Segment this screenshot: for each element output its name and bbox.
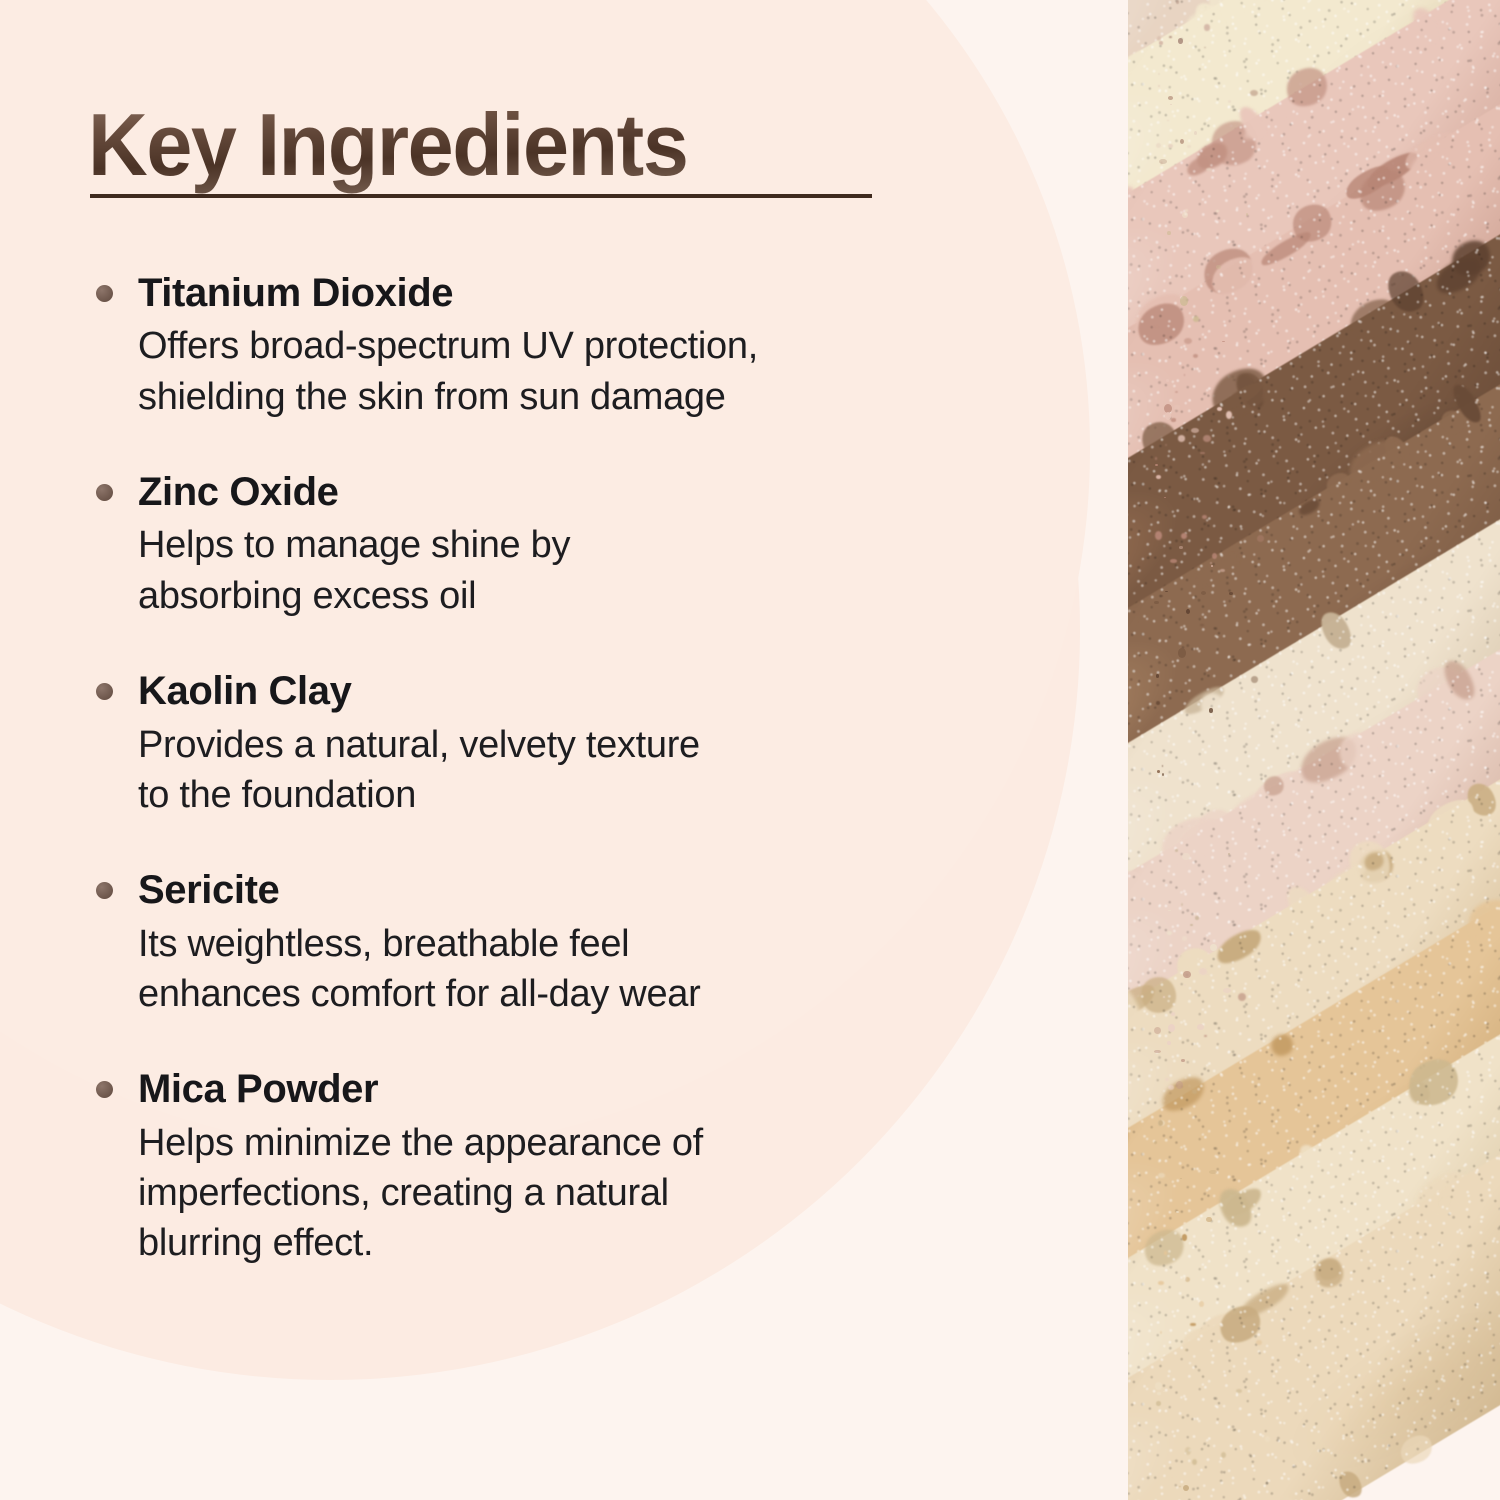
powder-speck (1182, 853, 1189, 860)
page-title: Key Ingredients (88, 96, 831, 195)
bullet-icon (96, 882, 113, 899)
ingredient-name: Sericite (138, 866, 1048, 915)
powder-crumb (1258, 1490, 1309, 1500)
powder-speck (1182, 936, 1187, 941)
ingredient-description-line: Helps minimize the appearance of (138, 1118, 1018, 1168)
ingredient-name: Zinc Oxide (138, 468, 1048, 517)
ingredient-description: Helps to manage shine byabsorbing excess… (138, 520, 1018, 620)
powder-speck (1211, 565, 1213, 567)
powder-speck (1184, 338, 1192, 344)
key-ingredients-panel: Key Ingredients Titanium DioxideOffers b… (0, 0, 1500, 1500)
ingredient-description-line: Its weightless, breathable feel (138, 919, 1018, 969)
powder-speck (1212, 553, 1217, 560)
powder-speck (1172, 1475, 1176, 1478)
powder-speck (1228, 100, 1231, 103)
powder-speck (1193, 354, 1198, 358)
powder-crumb (1128, 1260, 1136, 1293)
ingredient-name: Titanium Dioxide (138, 269, 1048, 318)
powder-crumb (1234, 102, 1271, 146)
powder-speck (1180, 296, 1188, 306)
title-underline (90, 194, 872, 198)
ingredient-list: Titanium DioxideOffers broad-spectrum UV… (88, 269, 1048, 1269)
powder-bands-container (1128, 0, 1500, 1500)
powder-speck (1155, 457, 1157, 460)
powder-crumb (1128, 184, 1137, 208)
powder-crumb (1430, 1189, 1458, 1216)
powder-crumb (1334, 1467, 1366, 1500)
powder-crumb (1128, 867, 1146, 899)
powder-speck (1217, 407, 1222, 411)
powder-speck (1200, 624, 1204, 626)
powder-speck (1220, 569, 1225, 572)
powder-speck (1167, 231, 1171, 235)
powder-crumb (1128, 323, 1142, 373)
ingredient-description: Helps minimize the appearance ofimperfec… (138, 1118, 1018, 1268)
ingredient-item: Mica PowderHelps minimize the appearance… (88, 1065, 1048, 1268)
powder-speck (1158, 1351, 1162, 1354)
powder-speck (1159, 159, 1166, 164)
powder-crumb (1128, 866, 1129, 922)
powder-crumb (1128, 1001, 1141, 1039)
powder-speck (1176, 1081, 1183, 1089)
ingredient-description-line: enhances comfort for all-day wear (138, 969, 1018, 1019)
powder-speck (1192, 1089, 1196, 1094)
powder-crumb (1189, 0, 1233, 48)
ingredient-description-line: shielding the skin from sun damage (138, 372, 1018, 422)
powder-speck (1154, 325, 1160, 328)
powder-speck (1156, 475, 1161, 479)
powder-speck (1171, 1012, 1175, 1016)
powder-speck (1158, 73, 1160, 75)
powder-crumb (1128, 614, 1131, 658)
ingredient-description-line: to the foundation (138, 770, 1018, 820)
ingredient-name: Mica Powder (138, 1065, 1048, 1114)
powder-speck (1155, 464, 1158, 466)
powder-speck (1166, 379, 1169, 382)
powder-crumb (1395, 1430, 1437, 1469)
powder-speck (1185, 1447, 1191, 1455)
ingredient-item: Titanium DioxideOffers broad-spectrum UV… (88, 269, 1048, 422)
ingredient-description-line: Helps to manage shine by (138, 520, 1018, 570)
powder-swatch-image (1128, 0, 1500, 1500)
powder-speck (1162, 773, 1164, 776)
powder-speck (1168, 96, 1173, 100)
powder-speck (1178, 648, 1186, 658)
powder-speck (1190, 924, 1192, 926)
powder-speck (1251, 676, 1258, 683)
powder-speck (1250, 90, 1258, 96)
powder-speck (1204, 1035, 1207, 1036)
powder-speck (1167, 120, 1169, 121)
powder-speck (1257, 535, 1264, 542)
ingredient-description-line: absorbing excess oil (138, 571, 1018, 621)
powder-crumb (1184, 153, 1213, 179)
powder-speck (1158, 1173, 1165, 1178)
powder-speck (1246, 213, 1248, 215)
powder-speck (1156, 701, 1160, 705)
ingredient-description-line: blurring effect. (138, 1218, 1018, 1268)
powder-speck (1181, 533, 1187, 539)
content-column: Key Ingredients Titanium DioxideOffers b… (88, 96, 1048, 1268)
powder-speck (1159, 41, 1163, 44)
ingredient-name: Kaolin Clay (138, 667, 1048, 716)
powder-speck (1179, 546, 1182, 549)
bullet-icon (96, 1081, 113, 1098)
powder-crumb (1231, 0, 1268, 14)
title-block: Key Ingredients (88, 96, 878, 195)
bullet-icon (96, 683, 113, 700)
bullet-icon (96, 285, 113, 302)
powder-speck (1209, 1170, 1216, 1174)
powder-speck (1183, 971, 1191, 979)
powder-speck (1238, 993, 1246, 1001)
powder-speck (1156, 143, 1161, 148)
powder-speck (1171, 418, 1175, 421)
powder-speck (1206, 1217, 1212, 1223)
powder-speck (1167, 931, 1172, 935)
powder-speck (1256, 1340, 1261, 1345)
ingredient-description-line: imperfections, creating a natural (138, 1168, 1018, 1218)
powder-speck (1204, 24, 1209, 30)
powder-speck (1176, 0, 1179, 3)
powder-crumb (1238, 0, 1287, 11)
bullet-icon (96, 484, 113, 501)
powder-speck (1155, 1211, 1158, 1214)
powder-speck (1174, 405, 1180, 409)
powder-speck (1229, 592, 1233, 595)
powder-speck (1169, 36, 1172, 38)
powder-speck (1154, 1027, 1161, 1034)
powder-speck (1170, 104, 1172, 105)
powder-speck (1156, 1401, 1160, 1406)
powder-speck (1181, 903, 1183, 906)
powder-speck (1203, 435, 1211, 442)
powder-speck (1197, 1024, 1203, 1030)
powder-speck (1206, 973, 1210, 975)
ingredient-description: Provides a natural, velvety textureto th… (138, 720, 1018, 820)
powder-crumb (1128, 185, 1148, 225)
ingredient-description-line: Provides a natural, velvety texture (138, 720, 1018, 770)
ingredient-description-line: Offers broad-spectrum UV protection, (138, 321, 1018, 371)
powder-speck (1163, 1391, 1165, 1392)
ingredient-description: Its weightless, breathable feelenhances … (138, 919, 1018, 1019)
powder-crumb (1202, 0, 1250, 28)
powder-speck (1193, 316, 1199, 321)
ingredient-item: Kaolin ClayProvides a natural, velvety t… (88, 667, 1048, 820)
ingredient-item: Zinc OxideHelps to manage shine byabsorb… (88, 468, 1048, 621)
powder-crumb (1128, 601, 1146, 652)
powder-speck (1216, 265, 1221, 269)
powder-speck (1158, 85, 1160, 87)
powder-speck (1156, 674, 1159, 678)
powder-speck (1197, 958, 1199, 959)
ingredient-description: Offers broad-spectrum UV protection,shie… (138, 321, 1018, 421)
powder-speck (1178, 435, 1185, 441)
ingredient-item: SericiteIts weightless, breathable feele… (88, 866, 1048, 1019)
